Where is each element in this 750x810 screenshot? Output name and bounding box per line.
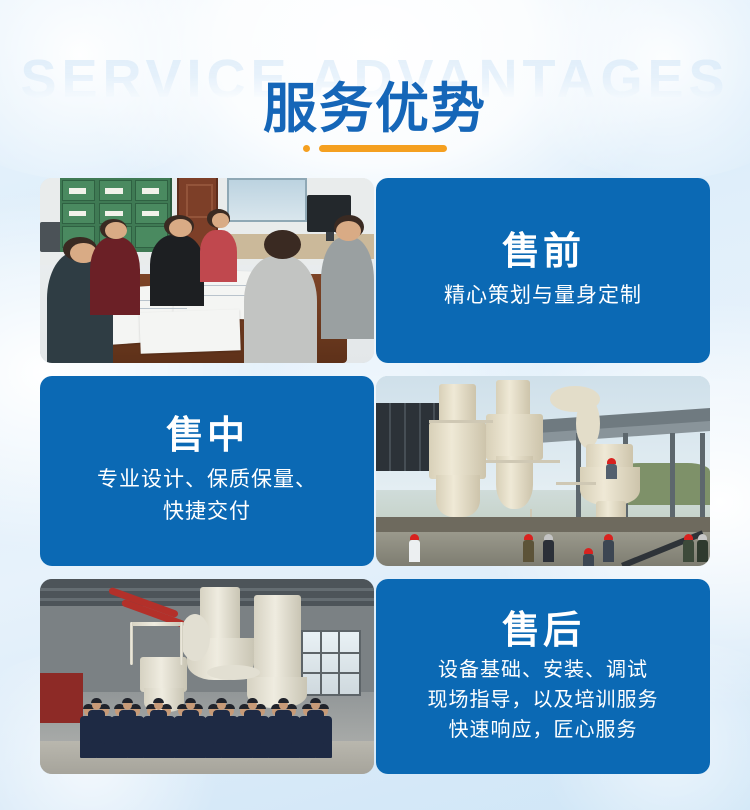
advantage-card-pre-sales: 售前 精心策划与量身定制: [40, 178, 710, 363]
card-line: 快捷交付: [163, 496, 251, 528]
card-line: 快速响应，匠心服务: [449, 715, 638, 745]
card-heading-in-sales: 售中: [166, 414, 248, 458]
card-line: 设备基础、安装、调试: [438, 655, 648, 685]
card-line: 精心策划与量身定制: [444, 280, 642, 312]
title-accent-underline: [0, 145, 750, 152]
card-copy-after-sales: 售后 设备基础、安装、调试 现场指导，以及培训服务 快速响应，匠心服务: [376, 579, 710, 774]
card-copy-pre-sales: 售前 精心策划与量身定制: [376, 178, 710, 363]
card-heading-pre-sales: 售前: [502, 230, 584, 274]
advantage-card-in-sales: 售中 专业设计、保质保量、 快捷交付: [40, 376, 710, 566]
card-photo-meeting-room: [40, 178, 374, 363]
card-photo-team: [40, 579, 374, 774]
service-advantages-page: SERVICE ADVANTAGES 服务优势: [0, 0, 750, 810]
card-line: 现场指导，以及培训服务: [428, 685, 659, 715]
card-copy-in-sales: 售中 专业设计、保质保量、 快捷交付: [40, 376, 374, 566]
advantage-card-after-sales: 售后 设备基础、安装、调试 现场指导，以及培训服务 快速响应，匠心服务: [40, 579, 710, 774]
card-photo-grinding-plant: [376, 376, 710, 566]
card-line: 专业设计、保质保量、: [97, 464, 317, 496]
page-header: SERVICE ADVANTAGES 服务优势: [0, 0, 750, 178]
page-title: 服务优势: [0, 76, 750, 142]
card-heading-after-sales: 售后: [502, 609, 584, 653]
accent-bar-icon: [319, 145, 447, 152]
accent-dot-icon: [303, 145, 310, 152]
advantage-card-list: 售前 精心策划与量身定制 售中 专业设计、保质保量、 快捷交付: [0, 178, 750, 774]
